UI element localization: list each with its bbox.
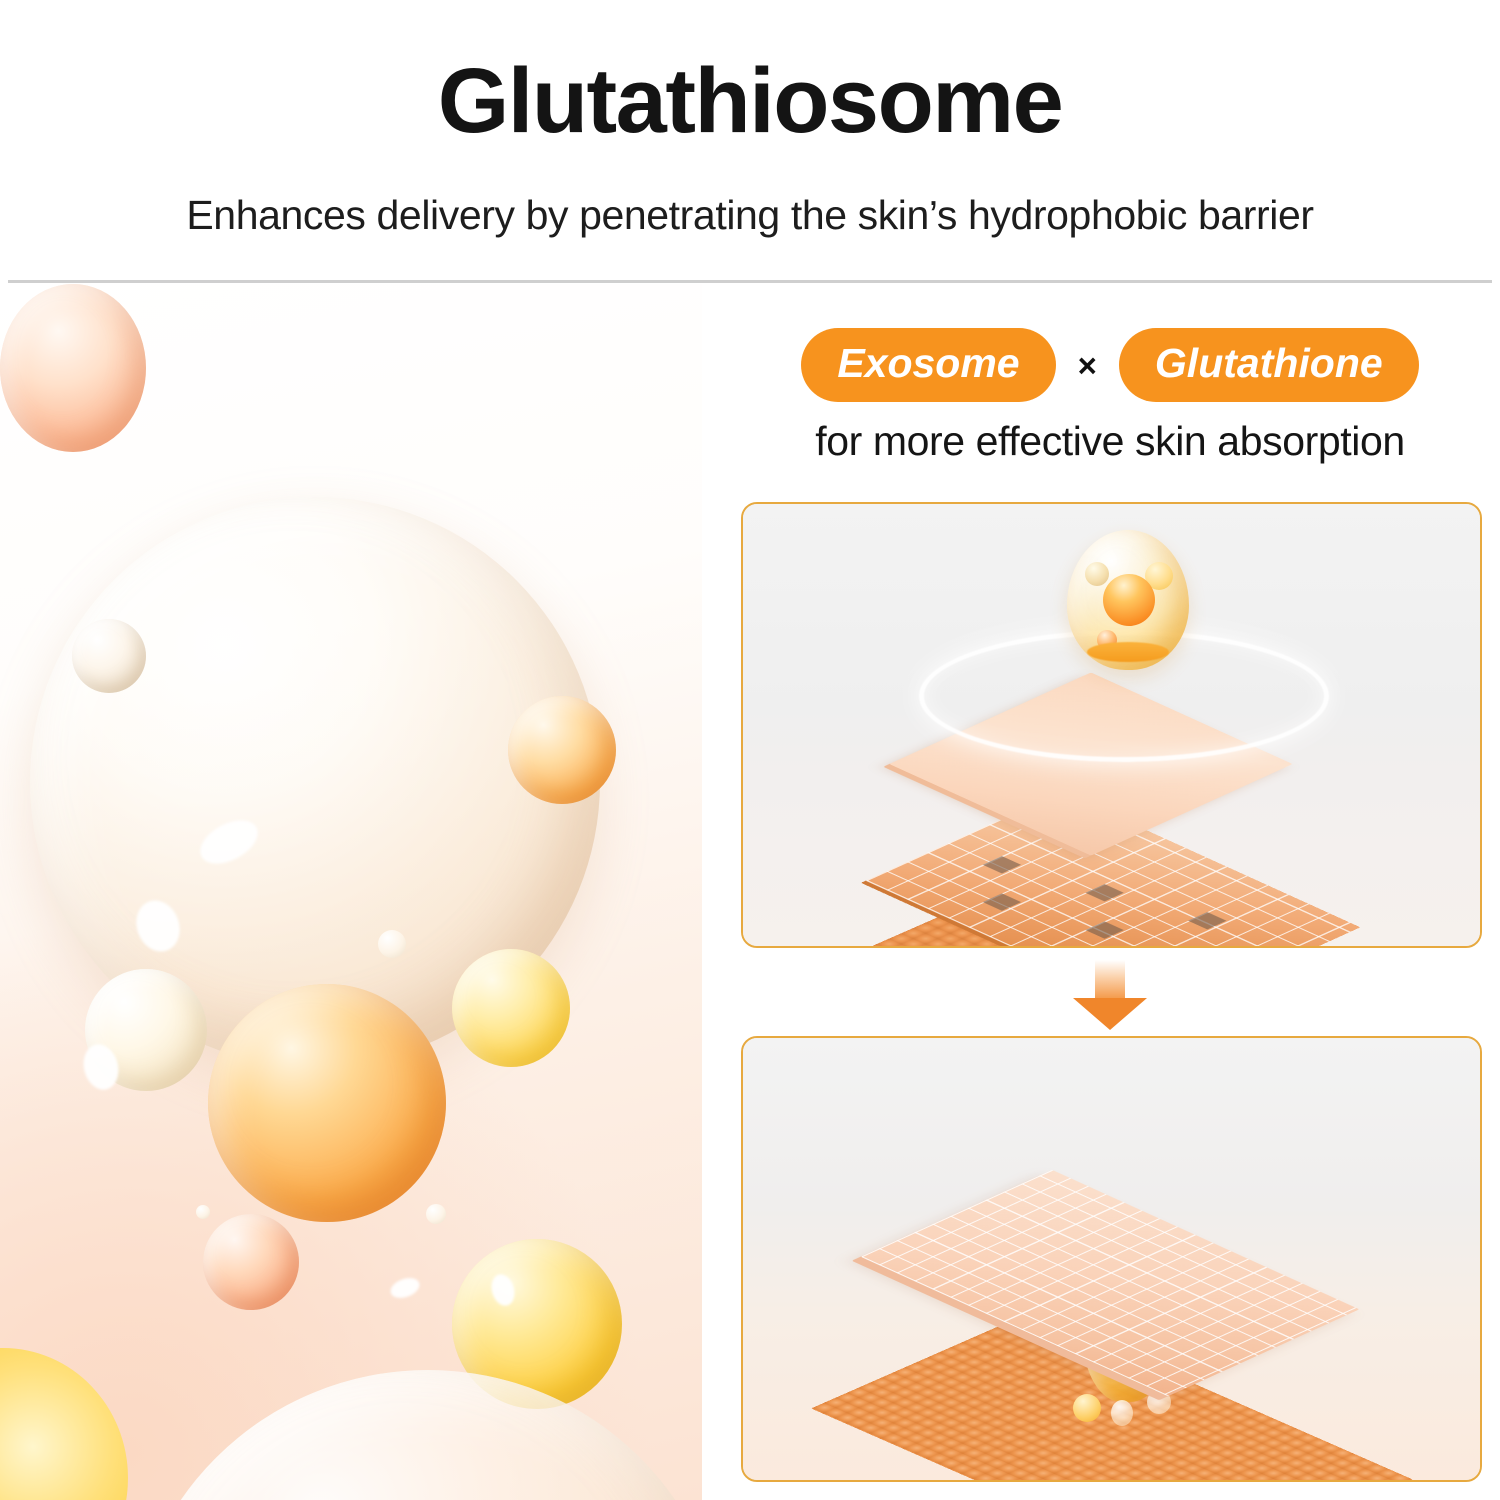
micro-bubble-c <box>196 1205 210 1219</box>
inner-peach-sphere <box>203 1214 299 1310</box>
highlight-gloss-5 <box>388 1274 422 1301</box>
micro-bubble-b <box>426 1204 446 1224</box>
header-divider <box>8 280 1492 283</box>
inner-orange-core-sphere <box>208 984 446 1222</box>
page-header: Glutathiosome Enhances delivery by penet… <box>0 0 1500 282</box>
grid-dark-tile <box>1085 921 1123 938</box>
downward-flow-arrow-icon <box>1073 960 1147 1030</box>
micro-droplet-a <box>1073 1394 1101 1422</box>
droplet-core-sphere <box>1103 574 1155 626</box>
grid-dark-tile <box>983 856 1021 873</box>
grid-dark-tile <box>1085 884 1123 901</box>
page-subtitle: Enhances delivery by penetrating the ski… <box>0 192 1500 239</box>
panel-exosome-absorbed <box>741 1036 1482 1482</box>
arrow-head <box>1073 998 1147 1030</box>
micro-bubble-a <box>378 930 406 958</box>
scene-top <box>743 504 1480 946</box>
scene-bottom <box>743 1038 1480 1480</box>
grid-dark-tile <box>983 893 1021 910</box>
hero-bubble-image <box>0 284 702 1500</box>
panel-exosome-on-surface <box>741 502 1482 948</box>
micro-droplet-b <box>1111 1400 1133 1426</box>
times-symbol-icon: × <box>1078 349 1097 382</box>
droplet-base-pool <box>1087 642 1169 662</box>
glutathiosome-droplet <box>1067 530 1189 670</box>
right-content-column: Exosome × Glutathione for more effective… <box>741 284 1479 1500</box>
lower-exosome-bubble <box>128 1370 702 1500</box>
badge-exosome: Exosome <box>801 328 1055 402</box>
lower-peach-sphere <box>0 284 146 452</box>
ingredient-badge-row: Exosome × Glutathione <box>741 328 1479 402</box>
edge-yellow-sphere <box>0 1348 128 1500</box>
arrow-shaft <box>1095 960 1125 1002</box>
inner-yellow-sphere <box>452 949 570 1067</box>
grid-dark-tile <box>1188 912 1226 929</box>
small-cream-bubble <box>72 619 146 693</box>
small-orange-bubble <box>508 696 616 804</box>
badge-glutathione: Glutathione <box>1119 328 1419 402</box>
badge-caption: for more effective skin absorption <box>741 418 1479 465</box>
page-title: Glutathiosome <box>0 52 1500 151</box>
droplet-inner-sphere-a <box>1085 562 1109 586</box>
